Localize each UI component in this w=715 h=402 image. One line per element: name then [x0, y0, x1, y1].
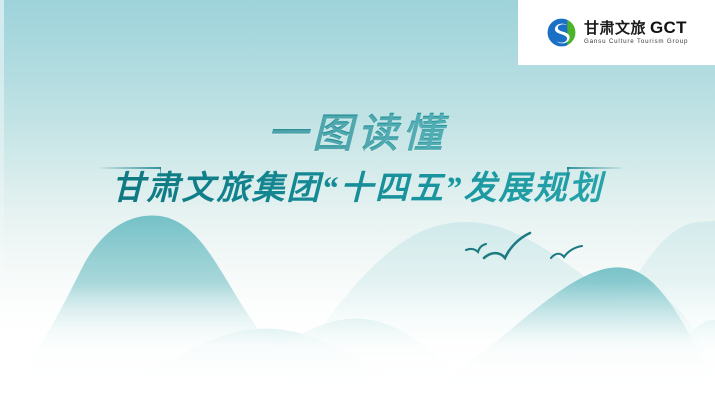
brand-name-en: Gansu Culture Tourism Group [584, 39, 688, 45]
mist-fade-overlay [0, 282, 715, 402]
brand-name-cn: 甘肃文旅 [584, 21, 646, 36]
brand-logo-text: 甘肃文旅 GCT Gansu Culture Tourism Group [584, 19, 688, 45]
page-subtitle-row: 甘肃文旅集团“十四五”发展规划 [0, 165, 715, 221]
gansu-culture-tourism-emblem-icon [546, 17, 577, 48]
presentation-slide: 一图读懂 甘肃文旅集团“十四五”发展规划 [0, 0, 715, 402]
brand-abbreviation: GCT [650, 19, 687, 36]
page-title-secondary: 甘肃文旅集团“十四五”发展规划 [0, 165, 715, 215]
brand-logo-plate[interactable]: 甘肃文旅 GCT Gansu Culture Tourism Group [518, 0, 715, 65]
mountain-landscape-illustration [0, 202, 715, 402]
page-title-primary: 一图读懂 [0, 112, 715, 155]
title-block: 一图读懂 甘肃文旅集团“十四五”发展规划 [0, 112, 715, 221]
